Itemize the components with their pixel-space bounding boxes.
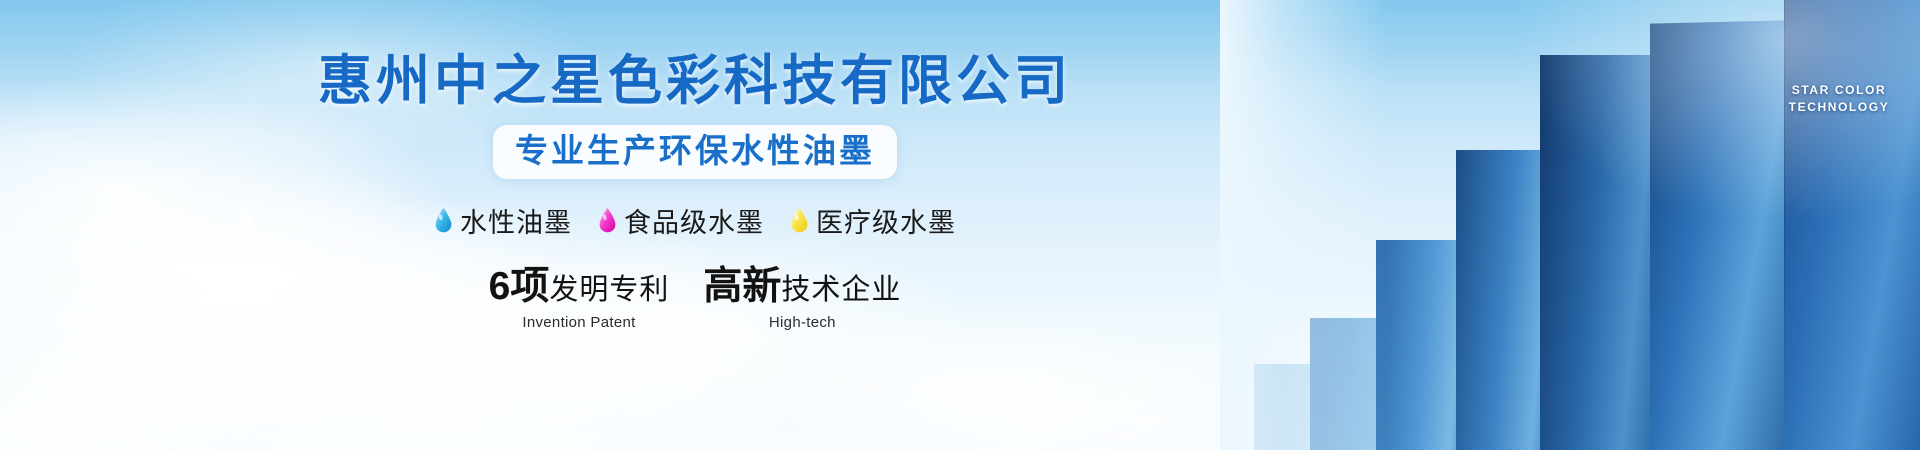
building-brand-line1: STAR COLOR: [1780, 82, 1898, 99]
building-brand-line2: TECHNOLOGY: [1780, 99, 1898, 116]
banner-content: 惠州中之星色彩科技有限公司 专业生产环保水性油墨 水性油墨: [0, 0, 1390, 450]
feature-list: 水性油墨 食品级水墨: [434, 201, 956, 240]
building-brand-text: STAR COLOR TECHNOLOGY: [1780, 82, 1898, 117]
badge-english-1: Invention Patent: [489, 314, 670, 331]
water-drop-icon: [434, 207, 453, 234]
feature-item-3: 医疗级水墨: [790, 201, 956, 240]
feature-item-1: 水性油墨: [434, 201, 572, 240]
badge-rest-2: 技术企业: [781, 276, 901, 305]
badge-high-tech: 高新 技术企业 High-tech: [703, 267, 901, 331]
building-1: [1785, 0, 1920, 450]
badge-strong-1: 6项: [489, 267, 550, 306]
feature-label-2: 食品级水墨: [624, 201, 764, 240]
badge-chinese-2: 高新 技术企业: [703, 267, 901, 306]
badge-rest-1: 发明专利: [549, 276, 669, 305]
company-hero-banner: Star Color STAR COLOR TECHNOLOGY 惠州中之星色彩…: [0, 0, 1920, 450]
water-drop-icon: [790, 207, 809, 234]
feature-label-3: 医疗级水墨: [816, 201, 956, 240]
badge-chinese-1: 6项 发明专利: [489, 267, 670, 306]
feature-item-2: 食品级水墨: [598, 201, 764, 240]
badge-strong-2: 高新: [703, 267, 781, 306]
subtitle-text: 专业生产环保水性油墨: [515, 132, 875, 170]
building-2: [1650, 20, 1800, 450]
subtitle-pill: 专业生产环保水性油墨: [493, 125, 897, 179]
water-drop-icon: [598, 207, 617, 234]
feature-label-1: 水性油墨: [460, 201, 572, 240]
badge-english-2: High-tech: [703, 314, 901, 331]
badge-invention-patent: 6项 发明专利 Invention Patent: [489, 267, 670, 331]
company-headline: 惠州中之星色彩科技有限公司: [318, 54, 1072, 108]
credential-badges: 6项 发明专利 Invention Patent 高新 技术企业 High-te…: [489, 267, 902, 331]
